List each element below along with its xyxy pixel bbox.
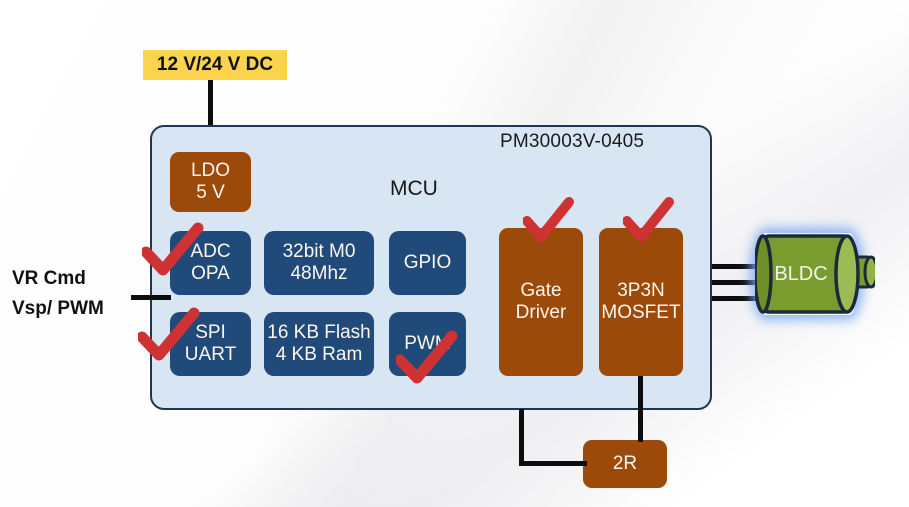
block-memory-line1: 16 KB Flash — [267, 322, 371, 344]
wire-shunt-feedback-vertical — [519, 409, 524, 466]
input-label-vsp-pwm: Vsp/ PWM — [12, 298, 104, 320]
diagram-canvas: 12 V/24 V DC PM30003V-0405 MCU LDO 5 V A… — [0, 0, 909, 507]
supply-voltage-label: 12 V/24 V DC — [143, 50, 287, 80]
mcu-section-label: MCU — [390, 177, 438, 201]
block-gpio-line1: GPIO — [404, 252, 452, 274]
block-core-line1: 32bit M0 — [283, 241, 356, 263]
block-memory[interactable]: 16 KB Flash 4 KB Ram — [264, 312, 374, 376]
block-gpio[interactable]: GPIO — [389, 231, 466, 295]
block-ldo-line1: LDO — [191, 160, 230, 182]
block-mosfet-line1: 3P3N — [617, 280, 665, 302]
checkmark-spi-uart — [138, 307, 200, 363]
block-mosfet[interactable]: 3P3N MOSFET — [599, 228, 683, 376]
block-shunt-2r-line1: 2R — [613, 453, 637, 475]
wire-command-input — [131, 295, 171, 300]
checkmark-mosfet — [623, 197, 675, 243]
block-gate-driver[interactable]: Gate Driver — [499, 228, 583, 376]
bldc-motor[interactable]: BLDC — [755, 233, 875, 315]
block-gate-driver-line2: Driver — [516, 302, 567, 324]
motor-label: BLDC — [755, 233, 847, 315]
block-gate-driver-line1: Gate — [520, 280, 561, 302]
wire-mosfet-to-shunt — [638, 376, 643, 442]
checkmark-gate-driver — [523, 197, 575, 243]
block-shunt-2r[interactable]: 2R — [583, 440, 667, 488]
block-core-line2: 48Mhz — [290, 263, 347, 285]
input-label-vr-cmd: VR Cmd — [12, 268, 86, 290]
wire-shunt-feedback-horizontal — [519, 461, 587, 466]
checkmark-pwm — [396, 330, 458, 386]
board-part-number: PM30003V-0405 — [500, 131, 720, 153]
block-memory-line2: 4 KB Ram — [276, 344, 363, 366]
block-mosfet-line2: MOSFET — [601, 302, 680, 324]
block-ldo[interactable]: LDO 5 V — [170, 152, 251, 212]
block-core[interactable]: 32bit M0 48Mhz — [264, 231, 374, 295]
checkmark-adc-opa — [142, 222, 204, 278]
block-ldo-line2: 5 V — [196, 182, 225, 204]
